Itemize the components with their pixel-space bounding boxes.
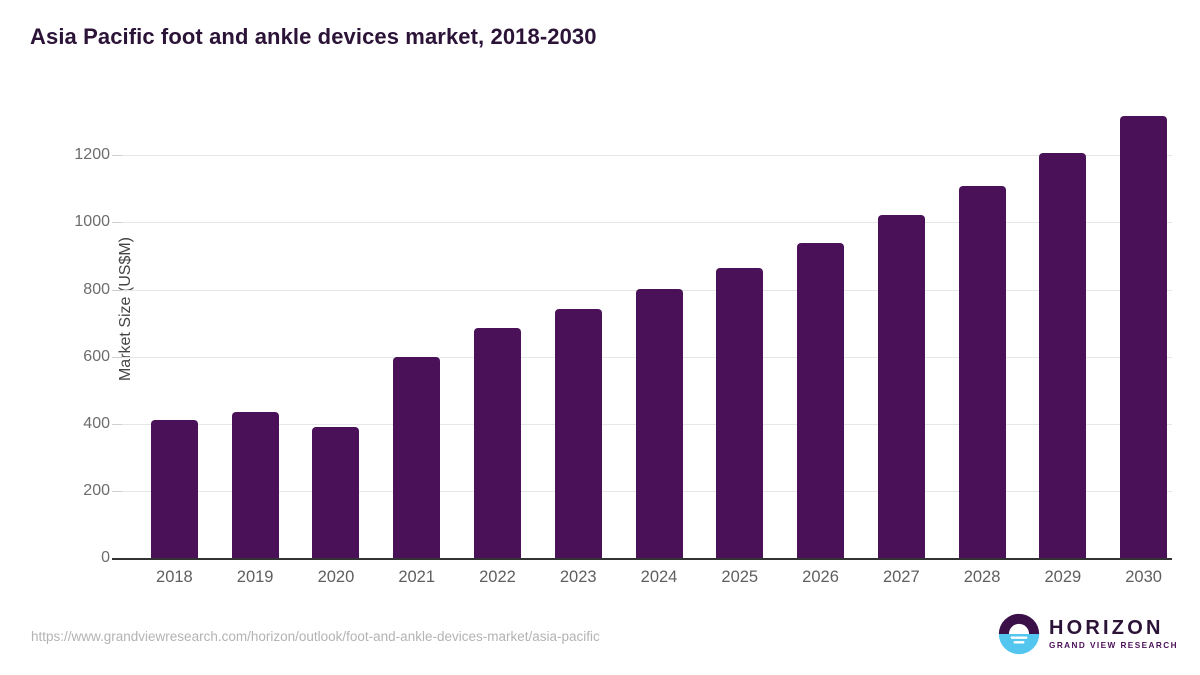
y-tick-mark — [112, 222, 122, 223]
bar[interactable] — [797, 243, 844, 558]
y-tick-mark — [112, 424, 122, 425]
y-tick-label: 800 — [50, 281, 110, 299]
horizon-logo: HORIZON GRAND VIEW RESEARCH — [998, 612, 1178, 656]
bar[interactable] — [1120, 116, 1167, 558]
logo-wordmark: HORIZON — [1049, 618, 1178, 638]
source-url[interactable]: https://www.grandviewresearch.com/horizo… — [31, 629, 600, 644]
horizon-logo-text: HORIZON GRAND VIEW RESEARCH — [1049, 618, 1178, 650]
y-tick-mark — [112, 357, 122, 358]
y-tick-mark — [112, 155, 122, 156]
x-tick-label: 2025 — [721, 568, 758, 587]
y-tick-label: 400 — [50, 415, 110, 433]
bar[interactable] — [1039, 153, 1086, 558]
y-tick-label: 600 — [50, 348, 110, 366]
x-tick-label: 2018 — [156, 568, 193, 587]
y-tick-label: 0 — [50, 549, 110, 567]
y-tick-label: 1200 — [50, 146, 110, 164]
bar[interactable] — [636, 289, 683, 558]
x-tick-label: 2027 — [883, 568, 920, 587]
y-tick-label: 200 — [50, 482, 110, 500]
bar[interactable] — [393, 357, 440, 558]
x-tick-label: 2023 — [560, 568, 597, 587]
y-axis-ticks: 020040060080010001200 — [40, 0, 110, 675]
x-tick-label: 2022 — [479, 568, 516, 587]
bar[interactable] — [878, 215, 925, 558]
x-tick-label: 2019 — [237, 568, 274, 587]
bar[interactable] — [474, 328, 521, 558]
x-tick-label: 2021 — [398, 568, 435, 587]
chart-canvas: Asia Pacific foot and ankle devices mark… — [0, 0, 1200, 675]
bar[interactable] — [555, 309, 602, 558]
bar[interactable] — [959, 186, 1006, 558]
bar[interactable] — [151, 420, 198, 558]
y-tick-mark — [112, 491, 122, 492]
x-tick-label: 2029 — [1044, 568, 1081, 587]
x-tick-label: 2030 — [1125, 568, 1162, 587]
x-tick-label: 2026 — [802, 568, 839, 587]
x-tick-label: 2024 — [641, 568, 678, 587]
logo-tagline: GRAND VIEW RESEARCH — [1049, 642, 1178, 650]
horizon-logo-icon — [998, 613, 1040, 655]
x-tick-label: 2020 — [318, 568, 355, 587]
bar[interactable] — [716, 268, 763, 558]
chart-title: Asia Pacific foot and ankle devices mark… — [30, 24, 597, 50]
y-tick-label: 1000 — [50, 213, 110, 231]
y-tick-mark — [112, 290, 122, 291]
x-axis-line — [112, 558, 1172, 560]
bars-layer — [122, 95, 1172, 558]
bar[interactable] — [312, 427, 359, 558]
bar[interactable] — [232, 412, 279, 558]
x-tick-label: 2028 — [964, 568, 1001, 587]
